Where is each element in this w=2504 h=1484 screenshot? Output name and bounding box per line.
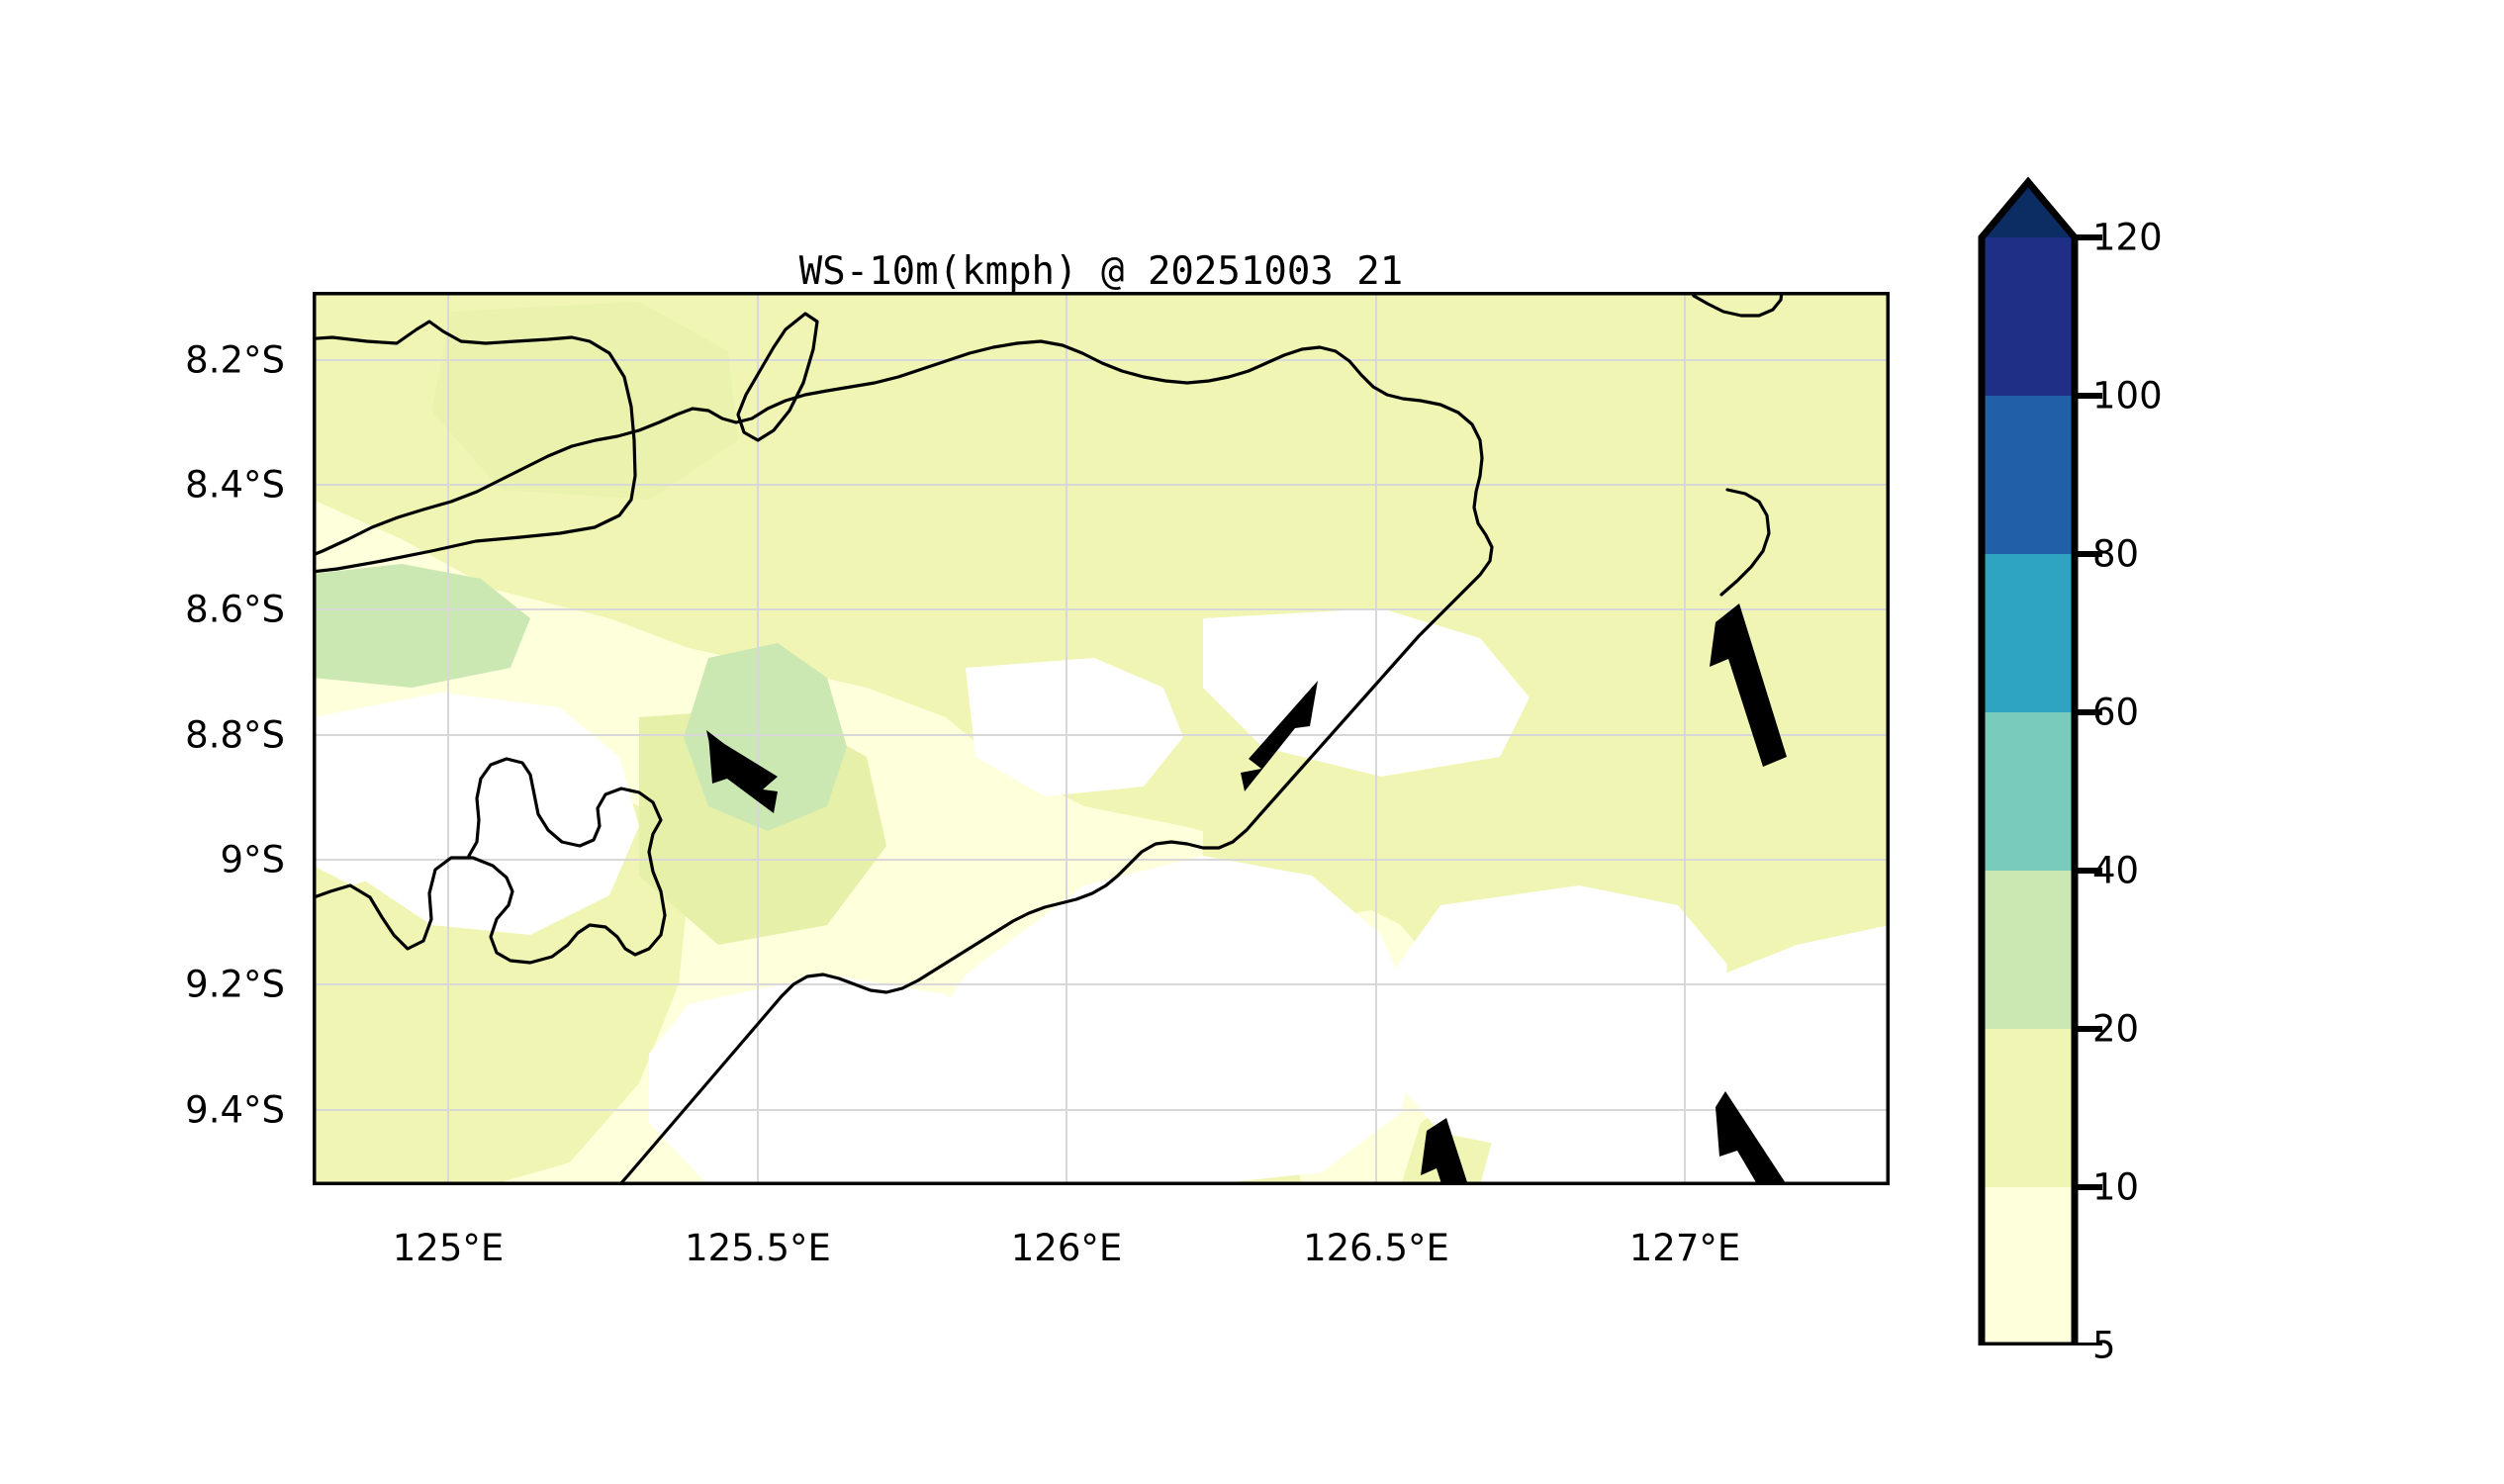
colorbar-band-10-20 <box>1982 1029 2075 1187</box>
colorbar: 120 100 80 60 40 20 10 5 <box>1974 176 2449 1345</box>
xtick-label-125p5: 125.5°E <box>609 1227 906 1269</box>
map-plot <box>313 292 1890 1185</box>
colorbar-label-60: 60 <box>2092 692 2139 734</box>
colorbar-label-120: 120 <box>2092 217 2163 259</box>
colorbar-extend-arrow <box>1982 182 2075 237</box>
title-line-1: WS-10m(kmph) @ 20251003_21 <box>313 251 1890 294</box>
ytick-label-8p4: 8.4°S <box>0 464 285 507</box>
xtick-label-125: 125°E <box>300 1227 597 1269</box>
xtick-label-127: 127°E <box>1536 1227 1833 1269</box>
figure-canvas: WS-10m(kmph) @ 20251003_21 Simulation Ti… <box>0 0 2504 1484</box>
ytick-label-9p0: 9°S <box>0 839 285 881</box>
contour-fill-layer <box>313 292 1890 1185</box>
colorbar-band-100-120 <box>1982 237 2075 396</box>
ytick-label-8p8: 8.8°S <box>0 714 285 757</box>
colorbar-label-100: 100 <box>2092 375 2163 417</box>
colorbar-label-80: 80 <box>2092 533 2139 576</box>
colorbar-band-40-60 <box>1982 712 2075 871</box>
map-axes <box>313 292 1890 1185</box>
colorbar-label-10: 10 <box>2092 1166 2139 1209</box>
colorbar-band-5-10 <box>1982 1187 2075 1345</box>
colorbar-band-20-40 <box>1982 871 2075 1029</box>
colorbar-band-60-80 <box>1982 554 2075 712</box>
colorbar-label-5: 5 <box>2092 1325 2116 1367</box>
colorbar-label-20: 20 <box>2092 1008 2139 1051</box>
colorbar-label-40: 40 <box>2092 850 2139 892</box>
ytick-label-8p6: 8.6°S <box>0 589 285 631</box>
xtick-label-126: 126°E <box>918 1227 1215 1269</box>
colorbar-band-80-100 <box>1982 396 2075 554</box>
colorbar-svg <box>1974 176 2449 1345</box>
xtick-label-126p5: 126.5°E <box>1228 1227 1525 1269</box>
ytick-label-8p2: 8.2°S <box>0 339 285 382</box>
ytick-label-9p2: 9.2°S <box>0 964 285 1006</box>
ytick-label-9p4: 9.4°S <box>0 1089 285 1132</box>
